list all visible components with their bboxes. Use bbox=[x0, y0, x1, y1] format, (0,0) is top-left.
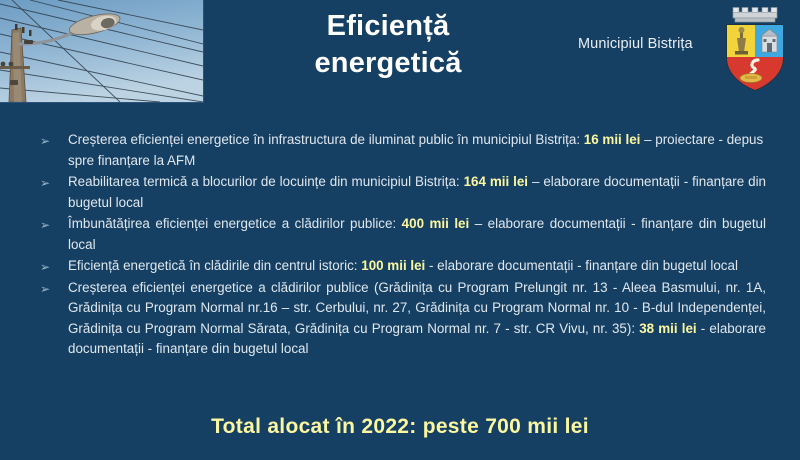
list-item: ➢Eficiență energetică în clădirile din c… bbox=[36, 256, 766, 277]
arrow-bullet-icon: ➢ bbox=[40, 279, 50, 299]
list-item-text: - elaborare documentații - finanțare din… bbox=[425, 258, 738, 273]
amount-value: 38 mii lei bbox=[639, 321, 696, 336]
amount-value: 16 mii lei bbox=[584, 132, 641, 147]
amount-value: 400 mii lei bbox=[402, 216, 470, 231]
brand-label: Municipiul Bistrița bbox=[578, 36, 693, 52]
page-title: Eficiență energetică bbox=[238, 8, 538, 82]
slide-root: Eficiență energetică Municipiul Bistrița bbox=[0, 0, 800, 460]
arrow-bullet-icon: ➢ bbox=[40, 215, 50, 235]
coat-of-arms-icon bbox=[718, 6, 792, 96]
list-item-text: Creșterea eficienței energetice în infra… bbox=[68, 132, 584, 147]
amount-value: 164 mii lei bbox=[464, 174, 528, 189]
total-allocation-label: Total alocat în 2022: peste 700 mii lei bbox=[0, 415, 800, 439]
coat-of-arms-logo bbox=[718, 6, 792, 96]
bullet-list: ➢Creșterea eficienței energetice în infr… bbox=[36, 130, 766, 361]
page-title-line-1: Eficiență bbox=[238, 8, 538, 45]
street-lamp-illustration bbox=[0, 0, 203, 102]
arrow-bullet-icon: ➢ bbox=[40, 131, 50, 151]
list-item: ➢Creșterea eficienței energetice în infr… bbox=[36, 130, 766, 171]
page-title-line-2: energetică bbox=[238, 45, 538, 82]
list-item: ➢Reabilitarea termică a blocurilor de lo… bbox=[36, 172, 766, 213]
list-item-text: Reabilitarea termică a blocurilor de loc… bbox=[68, 174, 464, 189]
list-item: ➢Îmbunătățirea eficienței energetice a c… bbox=[36, 214, 766, 255]
slide-header: Eficiență energetică Municipiul Bistrița bbox=[0, 0, 800, 104]
amount-value: 100 mii lei bbox=[361, 258, 425, 273]
list-item-text: Îmbunătățirea eficienței energetice a cl… bbox=[68, 216, 402, 231]
list-item: ➢Creșterea eficienței energetice a clădi… bbox=[36, 278, 766, 360]
list-item-text: Eficiență energetică în clădirile din ce… bbox=[68, 258, 361, 273]
street-lamp-photo bbox=[0, 0, 204, 103]
arrow-bullet-icon: ➢ bbox=[40, 173, 50, 193]
mural-crown bbox=[733, 8, 777, 23]
arrow-bullet-icon: ➢ bbox=[40, 257, 50, 277]
